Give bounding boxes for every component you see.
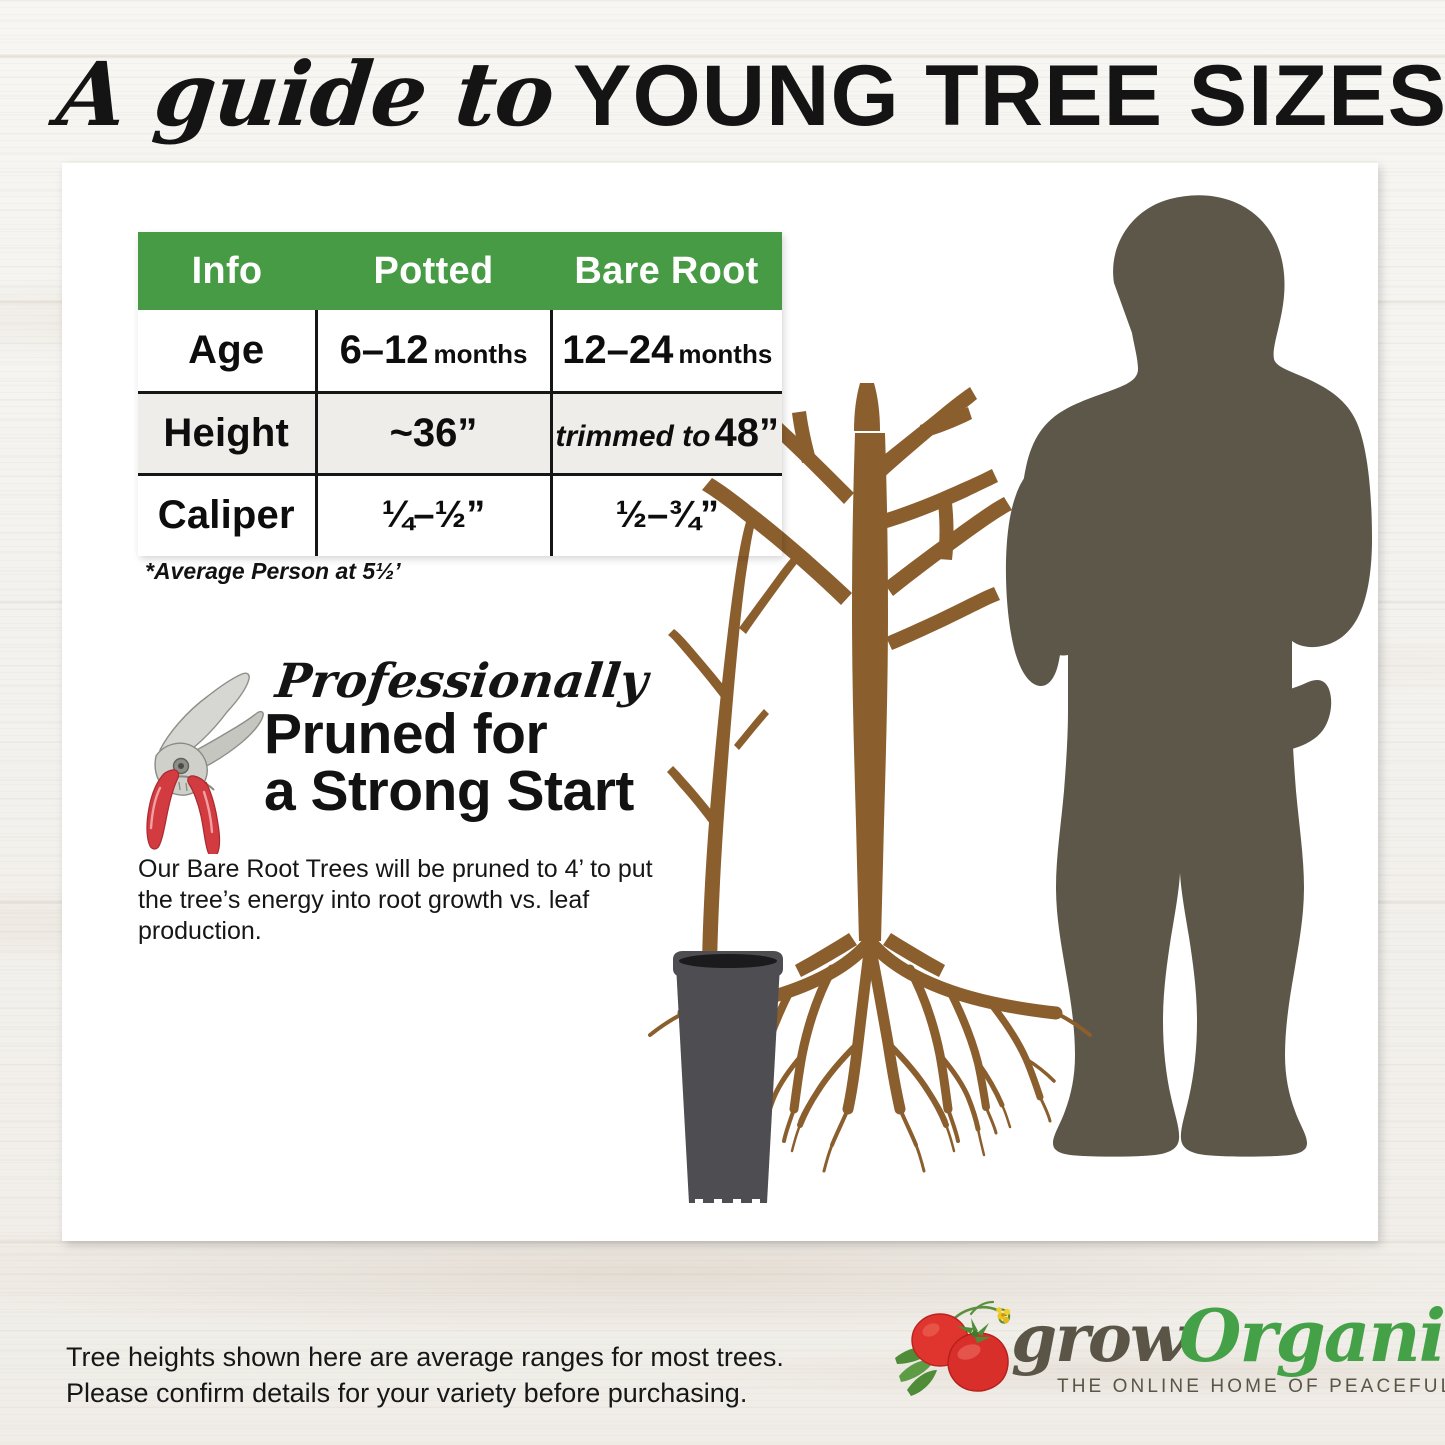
cell-height-potted: ~36” (316, 392, 551, 474)
tree-size-table: Info Potted Bare Root Age 6–12months 12–… (138, 232, 782, 556)
person-silhouette (1006, 195, 1372, 1156)
cell-age-potted-unit: months (434, 339, 528, 369)
pruned-body-line-1: Our Bare Root Trees will be pruned to 4’… (138, 854, 678, 885)
cell-caliper-potted: ¼–½” (316, 474, 551, 556)
logo-tagline: THE ONLINE HOME OF PEACEFUL VALLEY (1057, 1376, 1445, 1398)
cell-height-potted-value: ~36” (390, 411, 478, 455)
pruned-bold-line-2: a Strong Start (264, 763, 684, 820)
cell-height-bare-root: trimmed to48” (551, 392, 782, 474)
page-title-script: A guide to (53, 50, 558, 138)
row-label-caliper: Caliper (138, 474, 316, 556)
pruned-heading-group: Professionally Pruned for a Strong Start (264, 658, 684, 820)
cell-caliper-bare-root: ½–¾” (551, 474, 782, 556)
cell-age-bare-root: 12–24months (551, 310, 782, 392)
cell-height-bare-root-value: 48” (715, 411, 780, 455)
column-header-bare-root: Bare Root (551, 232, 782, 310)
footer-disclaimer-line-1: Tree heights shown here are average rang… (66, 1340, 784, 1376)
cell-age-bare-root-unit: months (678, 339, 772, 369)
cell-caliper-potted-value: ¼–½” (382, 494, 486, 536)
page-title: A guide to YOUNG TREE SIZES (58, 50, 1398, 162)
pruned-script-line: Professionally (273, 658, 687, 706)
row-label-age: Age (138, 310, 316, 392)
pruned-body-text: Our Bare Root Trees will be pruned to 4’… (138, 854, 678, 947)
infographic-card: Info Potted Bare Root Age 6–12months 12–… (62, 163, 1378, 1241)
cell-age-bare-root-value: 12–24 (562, 328, 673, 372)
column-header-potted: Potted (316, 232, 551, 310)
average-person-footnote: *Average Person at 5½’ (145, 558, 401, 585)
logo-wordmark: growOrganic.COM (1011, 1300, 1445, 1372)
potted-tree (667, 522, 801, 1206)
row-label-height: Height (138, 392, 316, 474)
table-row: Age 6–12months 12–24months (138, 310, 782, 392)
page-title-bold: YOUNG TREE SIZES (573, 53, 1445, 139)
logo-organic-text: Organic (1179, 1293, 1445, 1378)
cell-height-bare-root-prefix: trimmed to (555, 420, 710, 453)
table-row: Height ~36” trimmed to48” (138, 392, 782, 474)
cell-caliper-bare-root-value: ½–¾” (615, 494, 719, 536)
footer-disclaimer-line-2: Please confirm details for your variety … (66, 1376, 784, 1412)
logo-grow-text: grow (1011, 1299, 1185, 1377)
tomatoes-icon (893, 1298, 1021, 1402)
column-header-info: Info (138, 232, 316, 310)
pruned-bold-line-1: Pruned for (264, 706, 684, 763)
cell-age-potted-value: 6–12 (340, 328, 429, 372)
footer-disclaimer: Tree heights shown here are average rang… (66, 1340, 784, 1412)
pruning-shears-icon (138, 664, 270, 854)
grow-organic-logo[interactable]: growOrganic.COM THE ONLINE HOME OF PEACE… (893, 1296, 1393, 1408)
cell-age-potted: 6–12months (316, 310, 551, 392)
pruned-body-line-2: the tree’s energy into root growth vs. l… (138, 885, 678, 947)
table-header-row: Info Potted Bare Root (138, 232, 782, 310)
table-row: Caliper ¼–½” ½–¾” (138, 474, 782, 556)
